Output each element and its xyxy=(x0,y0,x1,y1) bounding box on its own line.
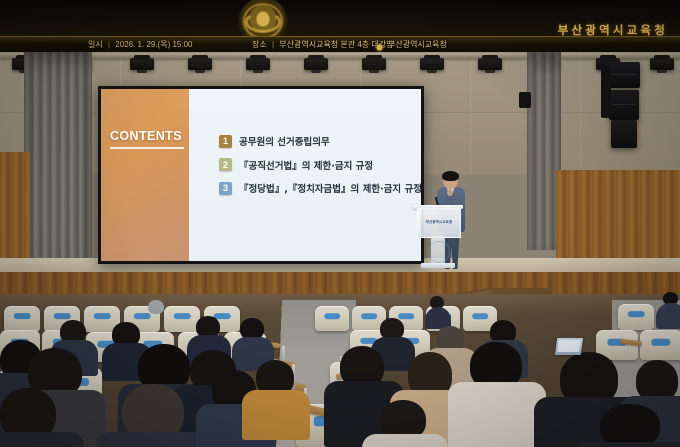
list-item-number: 2 xyxy=(219,158,232,171)
stage-spotlight-icon xyxy=(478,58,502,70)
audience-laptop xyxy=(555,338,583,355)
stage-spotlight-icon xyxy=(362,58,386,70)
stage-spotlight-icon xyxy=(130,58,154,70)
lectern-base xyxy=(421,263,455,268)
presenter-hand xyxy=(447,189,453,196)
auditorium-seat xyxy=(618,304,654,330)
list-item-number: 1 xyxy=(219,135,232,148)
banner-logo-icon xyxy=(375,43,384,52)
slide-section-title: CONTENTS xyxy=(110,129,180,143)
banner-place-label: 장소 xyxy=(252,40,267,49)
stage-spotlight-icon xyxy=(188,58,212,70)
list-item-label: 『정당법』,『정치자금법』의 제한·금지 규정 xyxy=(239,181,421,195)
list-item-label: 공무원의 선거중립의무 xyxy=(239,134,330,148)
slide-contents-list: 1 공무원의 선거중립의무 2 『공직선거법』의 제한·금지 규정 3 『정당법… xyxy=(219,134,421,195)
auditorium-seat xyxy=(164,306,200,332)
lighting-rail xyxy=(0,53,680,59)
line-array-speaker-icon xyxy=(609,90,639,120)
projection-screen: CONTENTS 1 공무원의 선거중립의무 2 『공직선거법』의 제한·금지 … xyxy=(98,86,424,264)
banner-datetime-value: 2026. 1. 29.(목) 15:00 xyxy=(115,40,192,49)
list-item-number: 3 xyxy=(219,182,232,195)
banner-datetime-label: 일시 xyxy=(88,40,103,49)
lectern-seal-icon xyxy=(428,241,450,263)
list-item-label: 『공직선거법』의 제한·금지 규정 xyxy=(239,158,373,172)
banner-separator-2: | xyxy=(269,40,277,49)
banner-separator-1: | xyxy=(105,40,113,49)
slide-canvas: CONTENTS 1 공무원의 선거중립의무 2 『공직선거법』의 제한·금지 … xyxy=(101,89,421,261)
slide-title-underline xyxy=(110,147,184,149)
line-array-speaker-icon xyxy=(611,120,637,148)
banner-place: 장소 | 부산광역시교육청 본관 4층 대강당 xyxy=(252,39,393,50)
auditorium-photo: 부산광역시교육청 일시 | 2026. 1. 29.(목) 15:00 장소 |… xyxy=(0,0,680,447)
list-item: 1 공무원의 선거중립의무 xyxy=(219,134,421,148)
lectern-front-panel: 부산광역시교육청 xyxy=(417,208,461,238)
banner-datetime: 일시 | 2026. 1. 29.(목) 15:00 xyxy=(88,39,192,50)
presenter-hair xyxy=(442,171,459,181)
line-array-speaker-icon xyxy=(606,62,640,88)
banner-host: 부산광역시교육청 xyxy=(388,39,447,50)
slide-body-panel: 1 공무원의 선거중립의무 2 『공직선거법』의 제한·금지 규정 3 『정당법… xyxy=(189,89,421,261)
lectern: 부산광역시교육청 xyxy=(413,205,463,268)
wall-speaker-icon xyxy=(519,92,531,108)
stage-spotlight-icon xyxy=(246,58,270,70)
list-item: 3 『정당법』,『정치자금법』의 제한·금지 규정 xyxy=(219,181,421,195)
stage-spotlight-icon xyxy=(304,58,328,70)
stage-curtain-left xyxy=(24,52,92,280)
list-item: 2 『공직선거법』의 제한·금지 규정 xyxy=(219,158,421,172)
auditorium-seat xyxy=(315,306,349,331)
slide-accent-panel: CONTENTS xyxy=(101,89,189,261)
speaker-side-panel xyxy=(601,66,611,118)
lectern-plate-text: 부산광역시교육청 xyxy=(426,219,453,224)
stage-spotlight-icon xyxy=(650,58,674,70)
auditorium-seat xyxy=(640,330,680,360)
auditorium-seat xyxy=(4,306,40,332)
stage-spotlight-icon xyxy=(420,58,444,70)
